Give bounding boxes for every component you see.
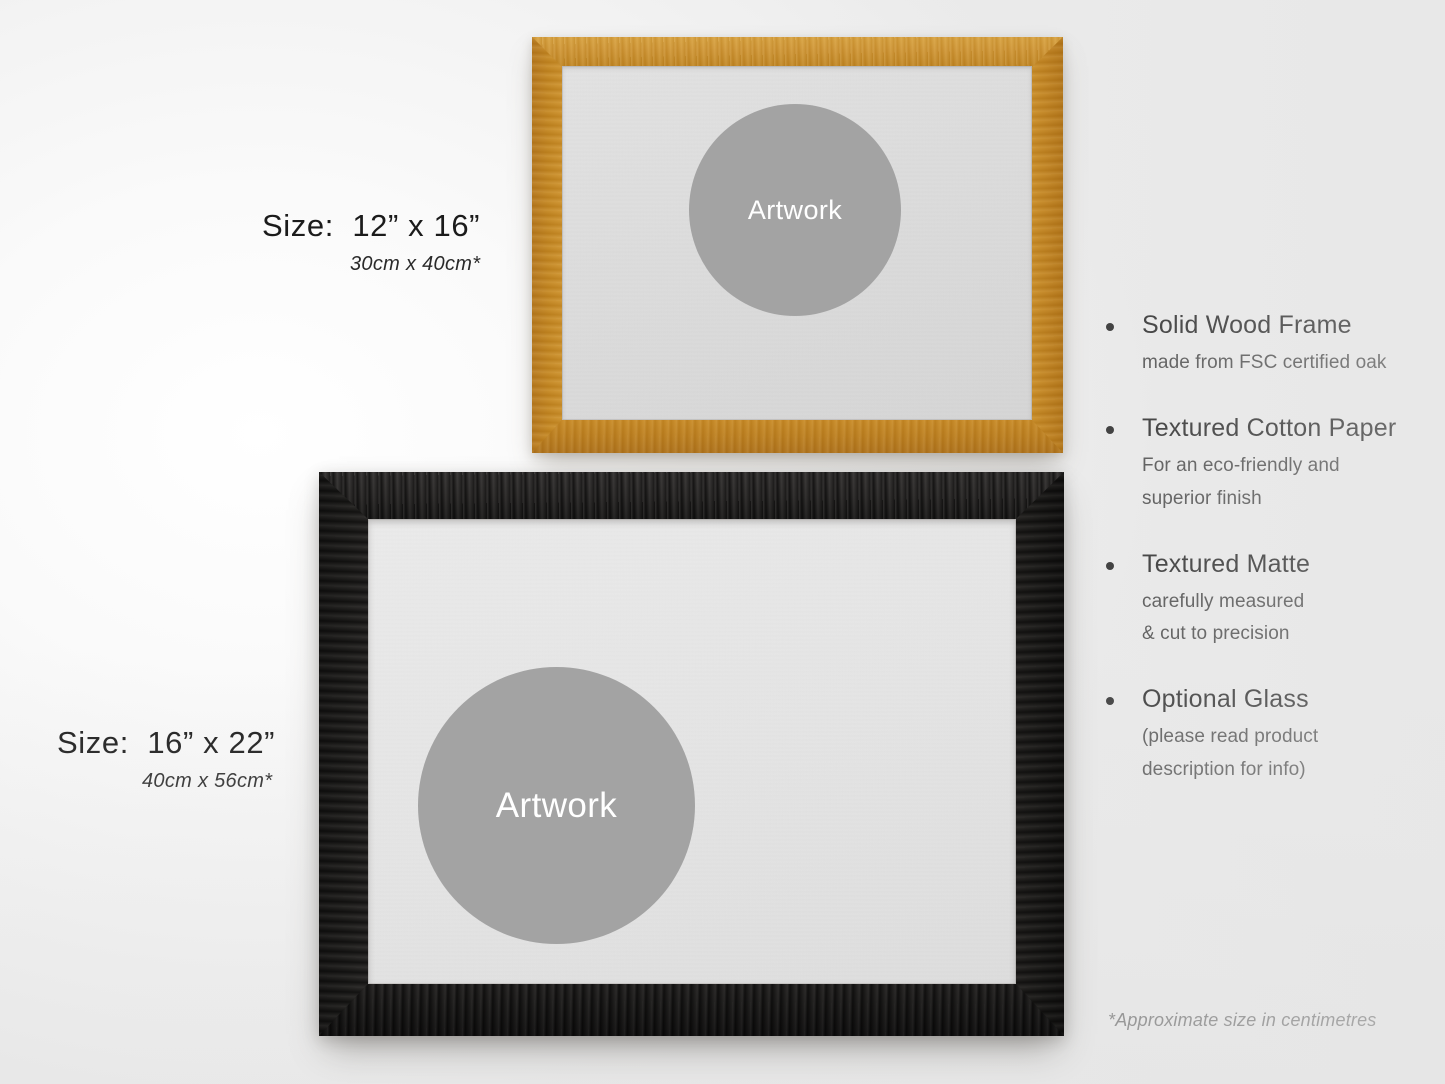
bullet-dot-icon bbox=[1106, 562, 1114, 570]
feature-description: made from FSC certified oak bbox=[1142, 347, 1420, 380]
size-label-large-centimetres: 40cm x 56cm* bbox=[57, 770, 275, 793]
artwork-placeholder-circle-large: Artwork bbox=[418, 667, 695, 944]
feature-item-textured-cotton-paper: Textured Cotton Paper For an eco-friendl… bbox=[1100, 413, 1420, 516]
black-frame-right-rail bbox=[1016, 472, 1064, 1036]
feature-item-optional-glass: Optional Glass (please read product desc… bbox=[1100, 684, 1420, 787]
bullet-dot-icon bbox=[1106, 323, 1114, 331]
feature-item-textured-matte: Textured Matte carefully measured & cut … bbox=[1100, 549, 1420, 652]
black-frame-bottom-rail bbox=[319, 984, 1064, 1036]
product-feature-list: Solid Wood Frame made from FSC certified… bbox=[1100, 310, 1420, 787]
black-frame-left-rail bbox=[319, 472, 368, 1036]
feature-title: Optional Glass bbox=[1142, 684, 1420, 715]
bullet-dot-icon bbox=[1106, 697, 1114, 705]
black-frame-mat-board: Artwork bbox=[368, 519, 1016, 984]
black-frame-top-rail bbox=[319, 472, 1064, 519]
feature-title: Textured Cotton Paper bbox=[1142, 413, 1420, 444]
size-label-large: Size: 16” x 22” 40cm x 56cm* bbox=[57, 725, 275, 793]
feature-title: Solid Wood Frame bbox=[1142, 310, 1420, 341]
feature-description: (please read product description for inf… bbox=[1142, 721, 1420, 786]
oak-frame-mat-board: Artwork bbox=[562, 66, 1032, 420]
oak-frame-right-rail bbox=[1032, 37, 1063, 453]
feature-description: For an eco-friendly and superior finish bbox=[1142, 450, 1420, 515]
size-label-small-centimetres: 30cm x 40cm* bbox=[262, 253, 480, 276]
size-label-small: Size: 12” x 16” 30cm x 40cm* bbox=[262, 208, 480, 276]
oak-frame-12x16[interactable]: Artwork bbox=[532, 37, 1063, 453]
size-label-small-inches: Size: 12” x 16” bbox=[262, 208, 480, 244]
feature-item-solid-wood-frame: Solid Wood Frame made from FSC certified… bbox=[1100, 310, 1420, 380]
frame-size-guide-infographic: Artwork Artwork Size: 12” x 16” 30cm x 4… bbox=[0, 0, 1445, 1084]
black-frame-16x22[interactable]: Artwork bbox=[319, 472, 1064, 1036]
bullet-dot-icon bbox=[1106, 426, 1114, 434]
feature-description: carefully measured & cut to precision bbox=[1142, 586, 1420, 651]
oak-frame-bottom-rail bbox=[532, 420, 1063, 453]
size-label-large-inches: Size: 16” x 22” bbox=[57, 725, 275, 761]
artwork-placeholder-circle-small: Artwork bbox=[689, 104, 901, 316]
footnote-approximate-size: *Approximate size in centimetres bbox=[1108, 1010, 1377, 1031]
feature-title: Textured Matte bbox=[1142, 549, 1420, 580]
oak-frame-top-rail bbox=[532, 37, 1063, 66]
oak-frame-left-rail bbox=[532, 37, 562, 453]
